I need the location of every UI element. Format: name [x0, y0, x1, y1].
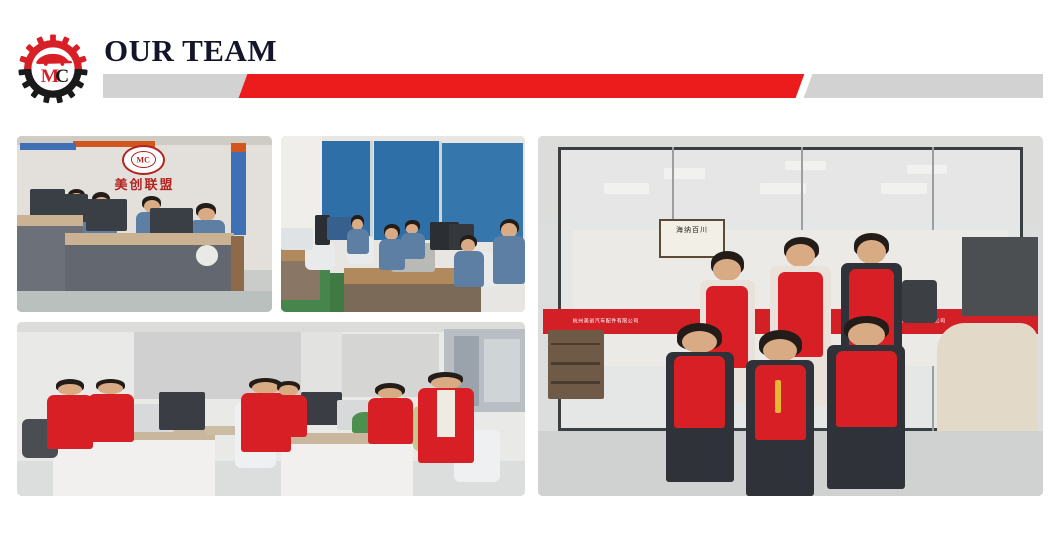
photo-team-group: 海纳百川 杭州美创汽车配件有限公司 杭州美创汽车配件有限公司: [538, 136, 1043, 496]
page-title: OUR TEAM: [104, 34, 277, 68]
person-figure: [664, 323, 735, 481]
person-figure: [271, 381, 307, 437]
filing-cabinet: [548, 330, 604, 398]
office-chair: [902, 280, 937, 323]
photo-office-reception: MC 美创联盟: [17, 136, 272, 312]
person-figure: [88, 379, 134, 442]
person-figure: [401, 220, 425, 259]
photo-office-open-plan: [17, 322, 525, 496]
logo-letter-c: C: [55, 66, 69, 87]
person-figure: [454, 235, 483, 288]
monitor: [281, 228, 313, 251]
header-accent-bar-red-stripe: [239, 74, 808, 98]
person-figure: [745, 330, 816, 496]
photo-office-blue-blinds: [281, 136, 525, 312]
person-figure: [368, 383, 414, 444]
person-figure: [493, 219, 525, 284]
monitor: [301, 392, 342, 425]
leather-sofa: [937, 323, 1038, 442]
monitor: [159, 392, 205, 430]
gear-car-mc-logo-icon: M C: [17, 33, 89, 105]
person-figure: [826, 316, 907, 489]
person-figure: [418, 372, 474, 462]
wall-logo-badge: MC: [122, 145, 165, 175]
person-figure: [47, 379, 93, 449]
calligraphy-text: 海纳百川: [669, 225, 716, 252]
company-logo: M C: [17, 33, 89, 105]
lanyard: [775, 380, 781, 413]
person-figure: [347, 215, 369, 254]
header-accent-bar: [103, 74, 1043, 98]
wall-shelf: [962, 237, 1038, 316]
company-banner-text: 杭州美创汽车配件有限公司: [573, 318, 639, 325]
page-header: M C OUR TEAM: [0, 0, 1060, 120]
monitor: [86, 199, 127, 231]
page-root: M C OUR TEAM MC 美创联盟: [0, 0, 1060, 542]
